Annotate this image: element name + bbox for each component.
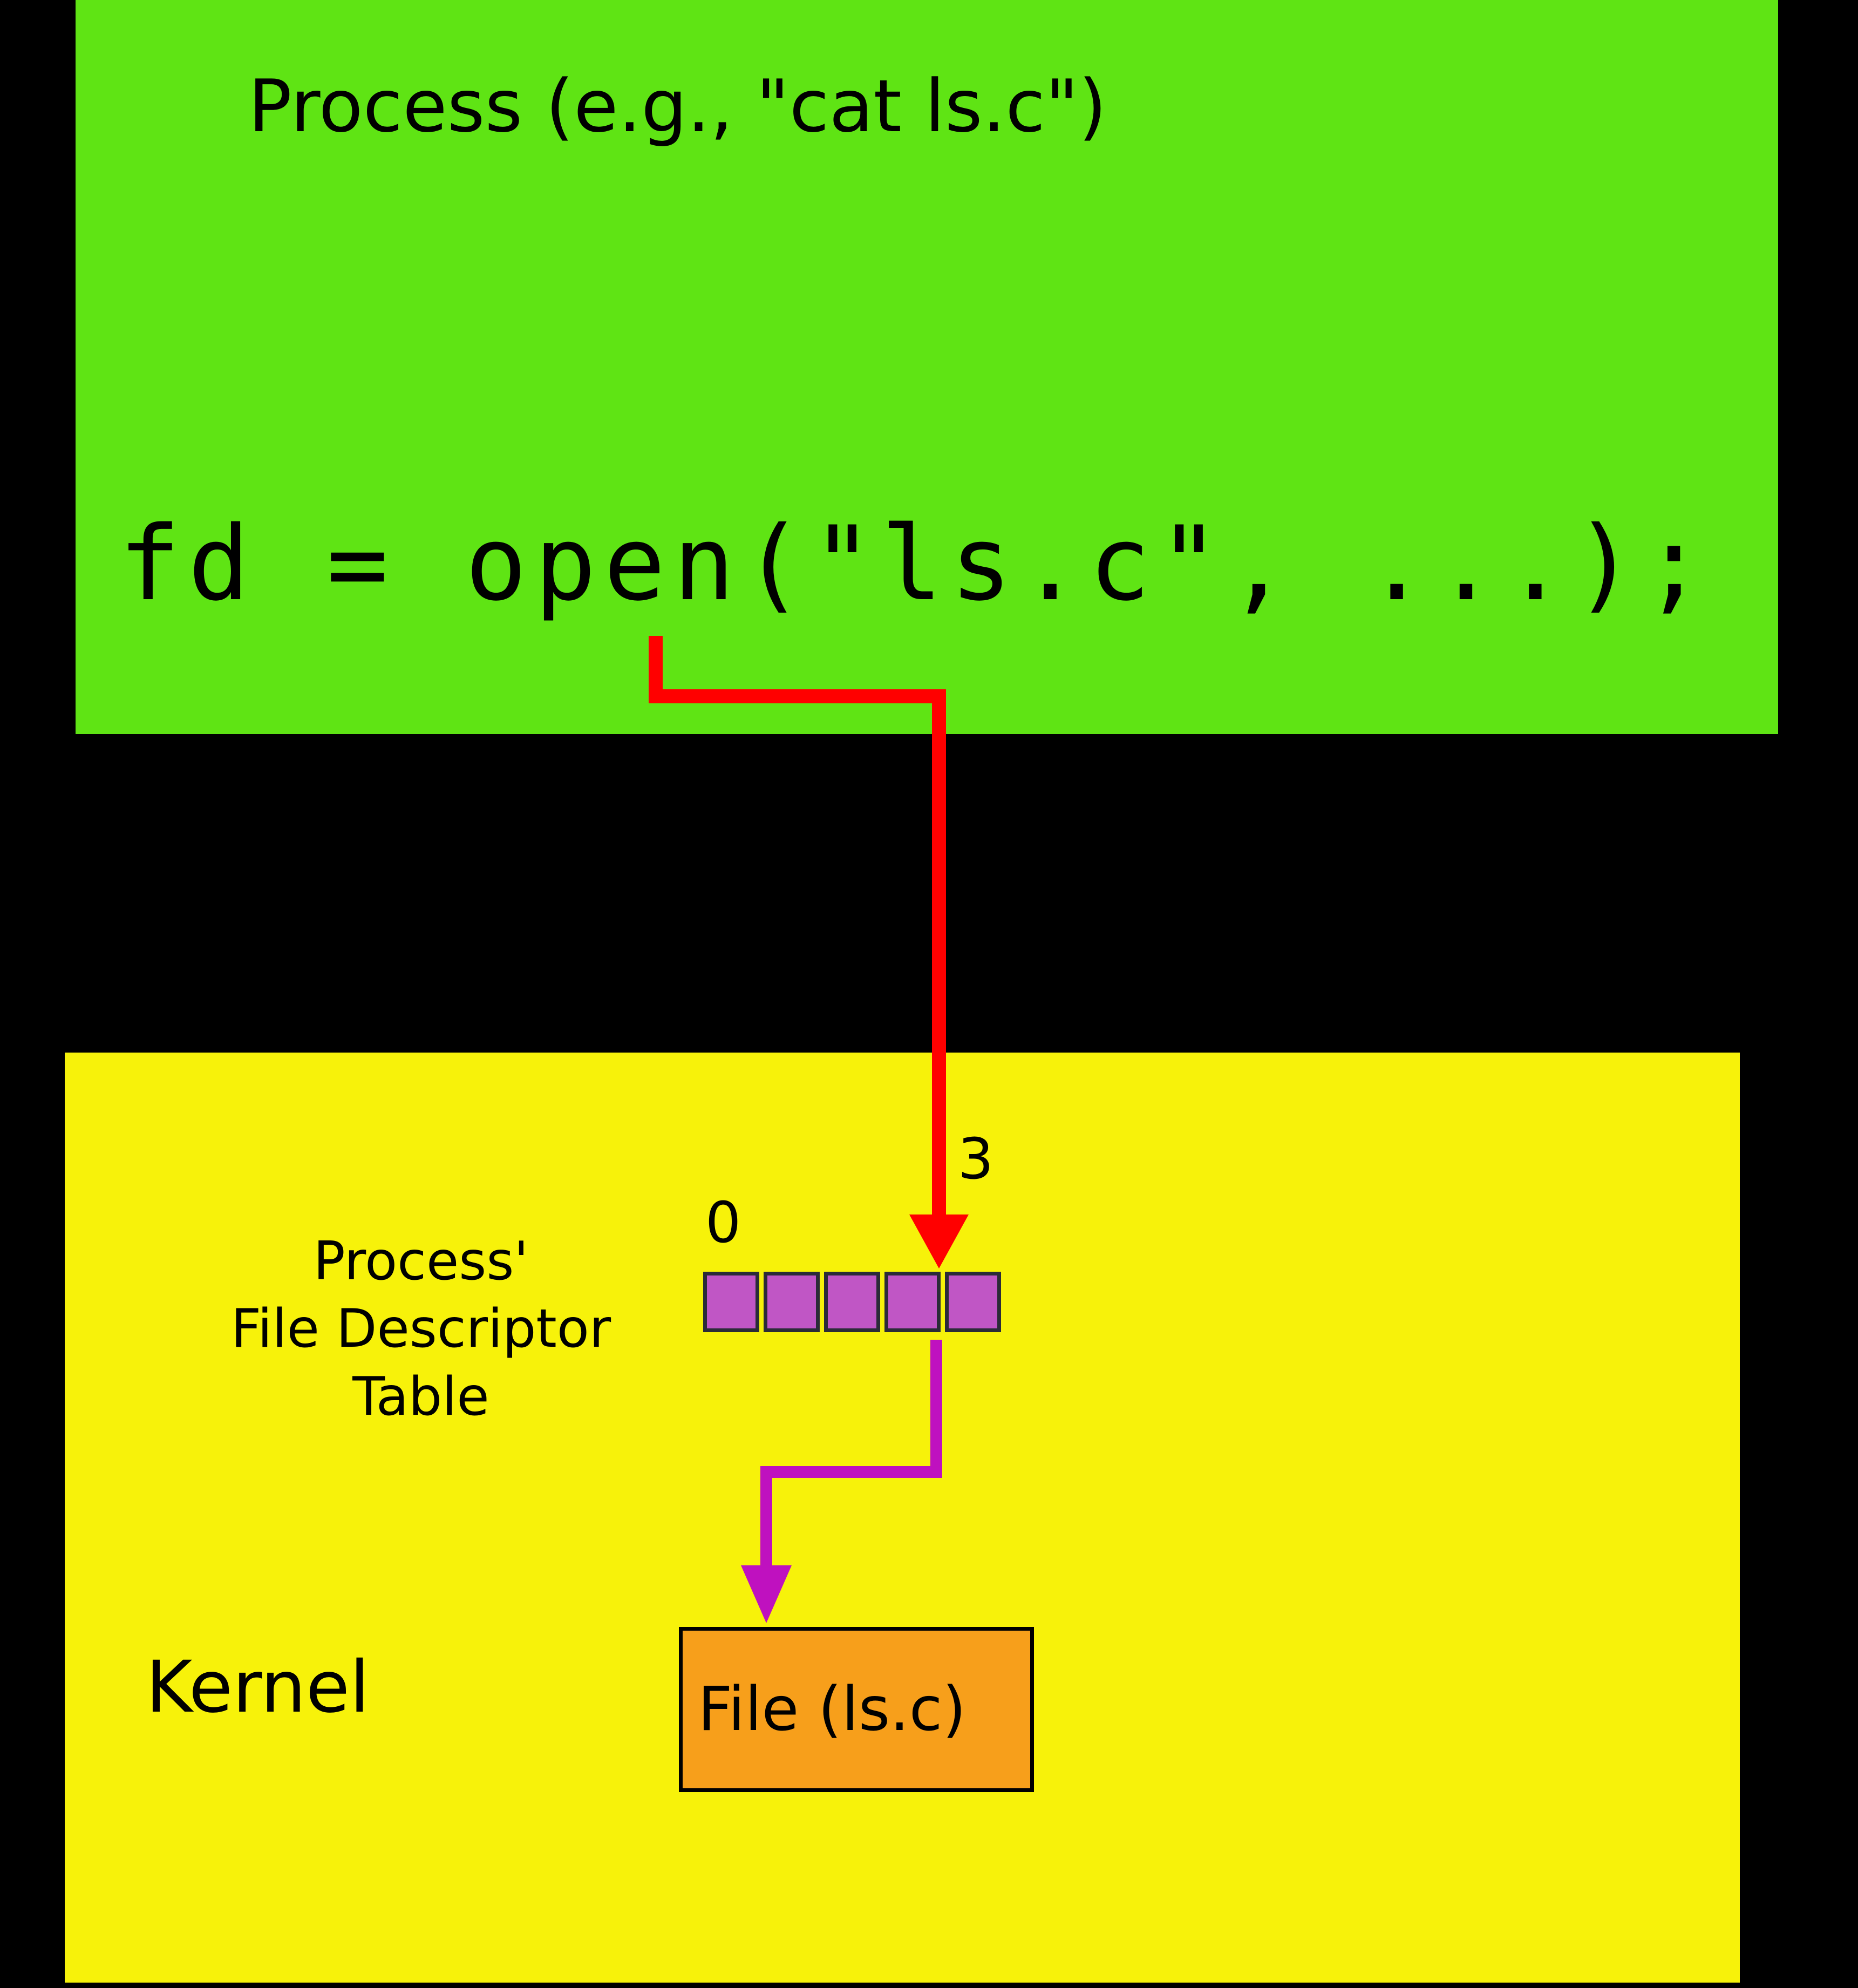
diagram-canvas: Process (e.g., "cat ls.c") fd = open("ls… bbox=[0, 0, 1858, 1988]
fd-table-cell-0[interactable] bbox=[703, 1272, 759, 1332]
fd-table-cell-1[interactable] bbox=[764, 1272, 820, 1332]
fd-table-caption-line-2: File Descriptor bbox=[178, 1295, 664, 1363]
process-panel-title: Process (e.g., "cat ls.c") bbox=[248, 70, 1107, 143]
fd-index-label-3: 3 bbox=[958, 1131, 993, 1187]
fd-table-cell-2[interactable] bbox=[824, 1272, 880, 1332]
file-box-label: File (ls.c) bbox=[683, 1679, 966, 1740]
fd-table-cell-3[interactable] bbox=[884, 1272, 941, 1332]
open-syscall-code-line: fd = open("ls.c", ...); bbox=[119, 513, 1712, 615]
fd-table-cell-4[interactable] bbox=[945, 1272, 1001, 1332]
fd-index-label-0: 0 bbox=[705, 1195, 741, 1251]
process-panel: Process (e.g., "cat ls.c") fd = open("ls… bbox=[76, 0, 1778, 734]
fd-table-caption: Process' File Descriptor Table bbox=[178, 1228, 664, 1431]
fd-table-caption-line-3: Table bbox=[178, 1363, 664, 1431]
file-box: File (ls.c) bbox=[679, 1627, 1034, 1792]
kernel-label: Kernel bbox=[146, 1652, 370, 1723]
kernel-panel bbox=[65, 1053, 1740, 1983]
fd-table-caption-line-1: Process' bbox=[178, 1228, 664, 1295]
file-descriptor-table bbox=[703, 1272, 1001, 1332]
